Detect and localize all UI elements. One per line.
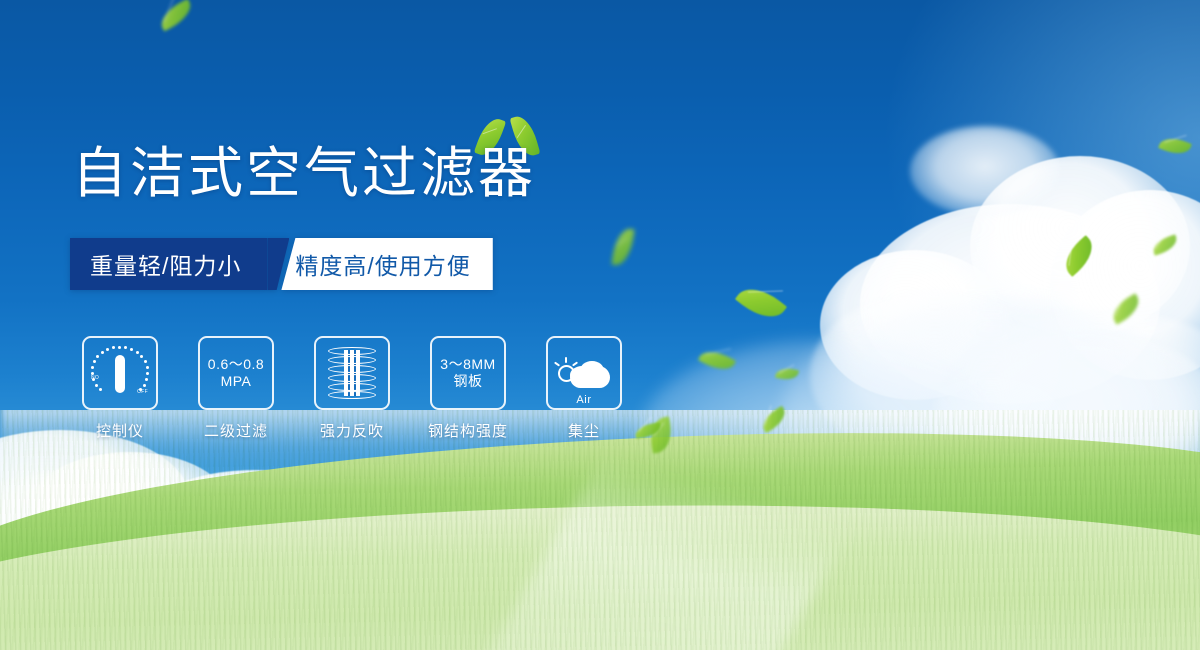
feature-item-backblow[interactable]: 强力反吹 (302, 336, 402, 441)
subtitle-right: 精度高/使用方便 (281, 238, 492, 290)
gauge-switch-icon: NO OFF (91, 345, 149, 401)
feature-icon-box: 3～8MM 钢板 (430, 336, 506, 410)
switch-bar-icon (115, 355, 125, 393)
feature-item-controller[interactable]: NO OFF 控制仪 (70, 336, 170, 441)
grass-texture (0, 410, 1200, 650)
feature-icon-box: NO OFF (82, 336, 158, 410)
page-title: 自洁式空气过滤器 (72, 145, 536, 203)
grass-field (0, 410, 1200, 650)
feature-label: 集尘 (568, 420, 600, 441)
cloud-air-icon: Air (556, 352, 612, 394)
feature-label: 二级过滤 (204, 420, 268, 441)
feature-item-steel-strength[interactable]: 3～8MM 钢板 钢结构强度 (418, 336, 518, 441)
feature-list: NO OFF 控制仪 0.6～0.8 MPA 二级过滤 (70, 336, 650, 441)
feature-item-dust-collection[interactable]: Air 集尘 (534, 336, 634, 441)
steel-material: 钢板 (454, 373, 483, 391)
feature-label: 强力反吹 (320, 420, 384, 441)
feature-label: 控制仪 (96, 420, 144, 441)
feature-label: 钢结构强度 (428, 420, 508, 441)
gauge-label-no: NO (91, 375, 99, 381)
filter-cartridge-icon (328, 347, 376, 399)
subtitle-left: 重量轻/阻力小 (70, 238, 267, 290)
feature-icon-box (314, 336, 390, 410)
pressure-unit: MPA (221, 373, 252, 391)
air-label: Air (556, 394, 612, 406)
gauge-label-off: OFF (137, 389, 148, 395)
feature-icon-box: Air (546, 336, 622, 410)
subtitle-bar: 重量轻/阻力小 精度高/使用方便 (70, 238, 493, 290)
feature-icon-box: 0.6～0.8 MPA (198, 336, 274, 410)
feature-item-secondary-filter[interactable]: 0.6～0.8 MPA 二级过滤 (186, 336, 286, 441)
product-banner: 自洁式空气过滤器 重量轻/阻力小 精度高/使用方便 (0, 0, 1200, 650)
steel-thickness: 3～8MM (440, 356, 495, 374)
pressure-value: 0.6～0.8 (208, 356, 264, 374)
